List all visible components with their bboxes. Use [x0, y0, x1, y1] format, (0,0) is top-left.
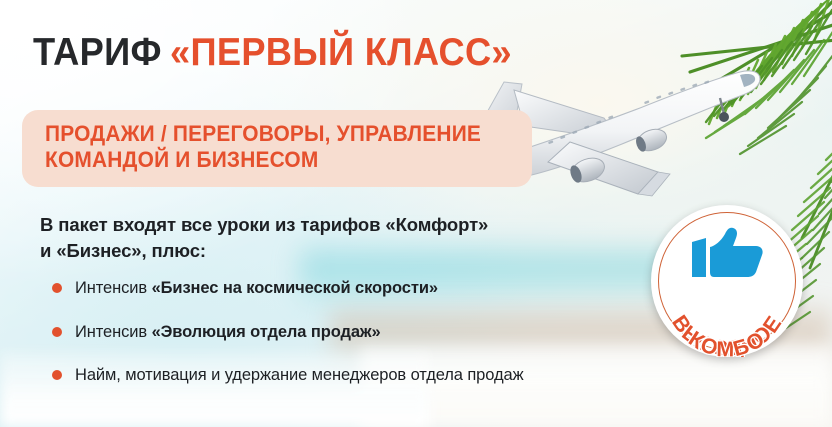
bullet-dot-icon: [52, 283, 62, 293]
intro-line-1: В пакет входят все уроки из тарифов «Ком…: [40, 214, 488, 235]
badge-text: ВЫГОДНОЕ КОМБО: [651, 205, 803, 357]
subtitle-text: ПРОДАЖИ / ПЕРЕГОВОРЫ, УПРАВЛЕНИЕ КОМАНДО…: [45, 121, 487, 174]
list-item-emphasis: «Бизнес на космической скорости»: [152, 279, 438, 297]
list-item-prefix: Найм, мотивация и удержание менеджеров о…: [75, 366, 524, 384]
list-item-prefix: Интенсив: [75, 323, 152, 341]
list-item: Интенсив «Бизнес на космической скорости…: [52, 278, 692, 299]
list-item-text: Интенсив «Эволюция отдела продаж»: [75, 322, 381, 343]
subtitle-banner: ПРОДАЖИ / ПЕРЕГОВОРЫ, УПРАВЛЕНИЕ КОМАНДО…: [22, 110, 532, 187]
promo-banner: ТАРИФ«ПЕРВЫЙ КЛАСС» ПРОДАЖИ / ПЕРЕГОВОРЫ…: [0, 0, 832, 427]
bullet-dot-icon: [52, 370, 62, 380]
list-item-prefix: Интенсив: [75, 279, 152, 297]
subtitle-line-2: КОМАНДОЙ И БИЗНЕСОМ: [45, 147, 487, 173]
subtitle-line-1: ПРОДАЖИ / ПЕРЕГОВОРЫ, УПРАВЛЕНИЕ: [45, 121, 481, 146]
status-badge: ВЫГОДНОЕ КОМБО: [651, 205, 803, 357]
feature-list: Интенсив «Бизнес на космической скорости…: [52, 278, 692, 386]
page-title: ТАРИФ«ПЕРВЫЙ КЛАСС»: [33, 33, 512, 72]
list-item-text: Интенсив «Бизнес на космической скорости…: [75, 278, 438, 299]
bullet-dot-icon: [52, 327, 62, 337]
intro-line-2: и «Бизнес», плюс:: [40, 238, 580, 264]
headline-highlight: «ПЕРВЫЙ КЛАСС»: [170, 31, 512, 74]
list-item-text: Найм, мотивация и удержание менеджеров о…: [75, 365, 524, 386]
badge-line-2: КОМБО: [684, 326, 769, 357]
list-item: Интенсив «Эволюция отдела продаж»: [52, 322, 692, 343]
list-item-emphasis: «Эволюция отдела продаж»: [152, 323, 381, 341]
intro-text: В пакет входят все уроки из тарифов «Ком…: [40, 212, 580, 263]
list-item: Найм, мотивация и удержание менеджеров о…: [52, 365, 692, 386]
headline-prefix: ТАРИФ: [33, 31, 162, 74]
